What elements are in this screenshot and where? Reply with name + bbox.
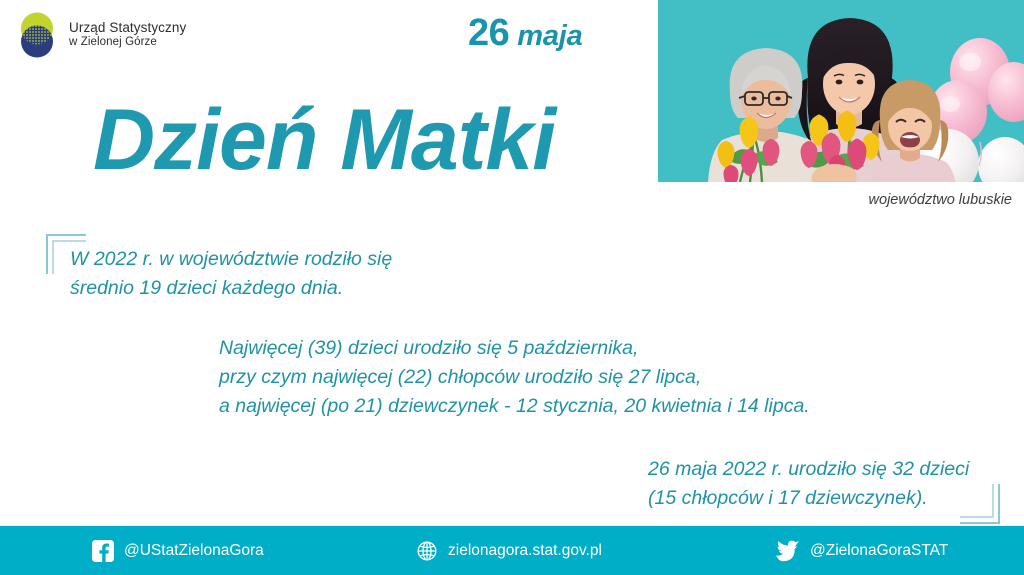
footer-facebook-label[interactable]: @UStatZielonaGora	[124, 542, 264, 560]
statistic-paragraph-daily-average: W 2022 r. w województwie rodziło się śre…	[70, 245, 392, 303]
footer-website-link[interactable]: zielonagora.stat.gov.pl	[416, 540, 602, 562]
footer-twitter-label[interactable]: @ZielonaGoraSTAT	[810, 542, 948, 560]
footer-facebook-link[interactable]: @UStatZielonaGora	[92, 540, 264, 562]
page-title: Dzień Matki	[93, 97, 555, 183]
footer-website-label[interactable]: zielonagora.stat.gov.pl	[448, 542, 602, 560]
event-date: 26maja	[468, 12, 583, 55]
photo-caption: województwo lubuskie	[869, 192, 1012, 208]
footer-twitter-link[interactable]: @ZielonaGoraSTAT	[775, 540, 948, 562]
facebook-icon[interactable]	[92, 540, 114, 562]
two-overlapping-circles-logo-icon	[14, 10, 60, 60]
footer-bar: @UStatZielonaGora zielonagora.stat.gov.p…	[0, 526, 1024, 575]
logo-line-2: w Zielonej Górze	[69, 36, 186, 50]
family-three-generations-photo-icon	[658, 0, 1024, 182]
logo-line-1: Urząd Statystyczny	[69, 20, 186, 36]
statistic-paragraph-record-days: Najwięcej (39) dzieci urodziło się 5 paź…	[219, 334, 810, 421]
organization-logo: Urząd Statystyczny w Zielonej Górze	[14, 10, 186, 60]
date-month: maja	[517, 20, 582, 52]
infographic-poster: Urząd Statystyczny w Zielonej Górze 26ma…	[0, 0, 1024, 575]
twitter-bird-icon[interactable]	[775, 540, 800, 562]
statistic-paragraph-may-26: 26 maja 2022 r. urodziło się 32 dzieci (…	[648, 455, 969, 513]
date-day: 26	[468, 12, 509, 54]
globe-icon[interactable]	[416, 540, 438, 562]
family-photo	[658, 0, 1024, 182]
logo-wordmark: Urząd Statystyczny w Zielonej Górze	[69, 20, 186, 49]
